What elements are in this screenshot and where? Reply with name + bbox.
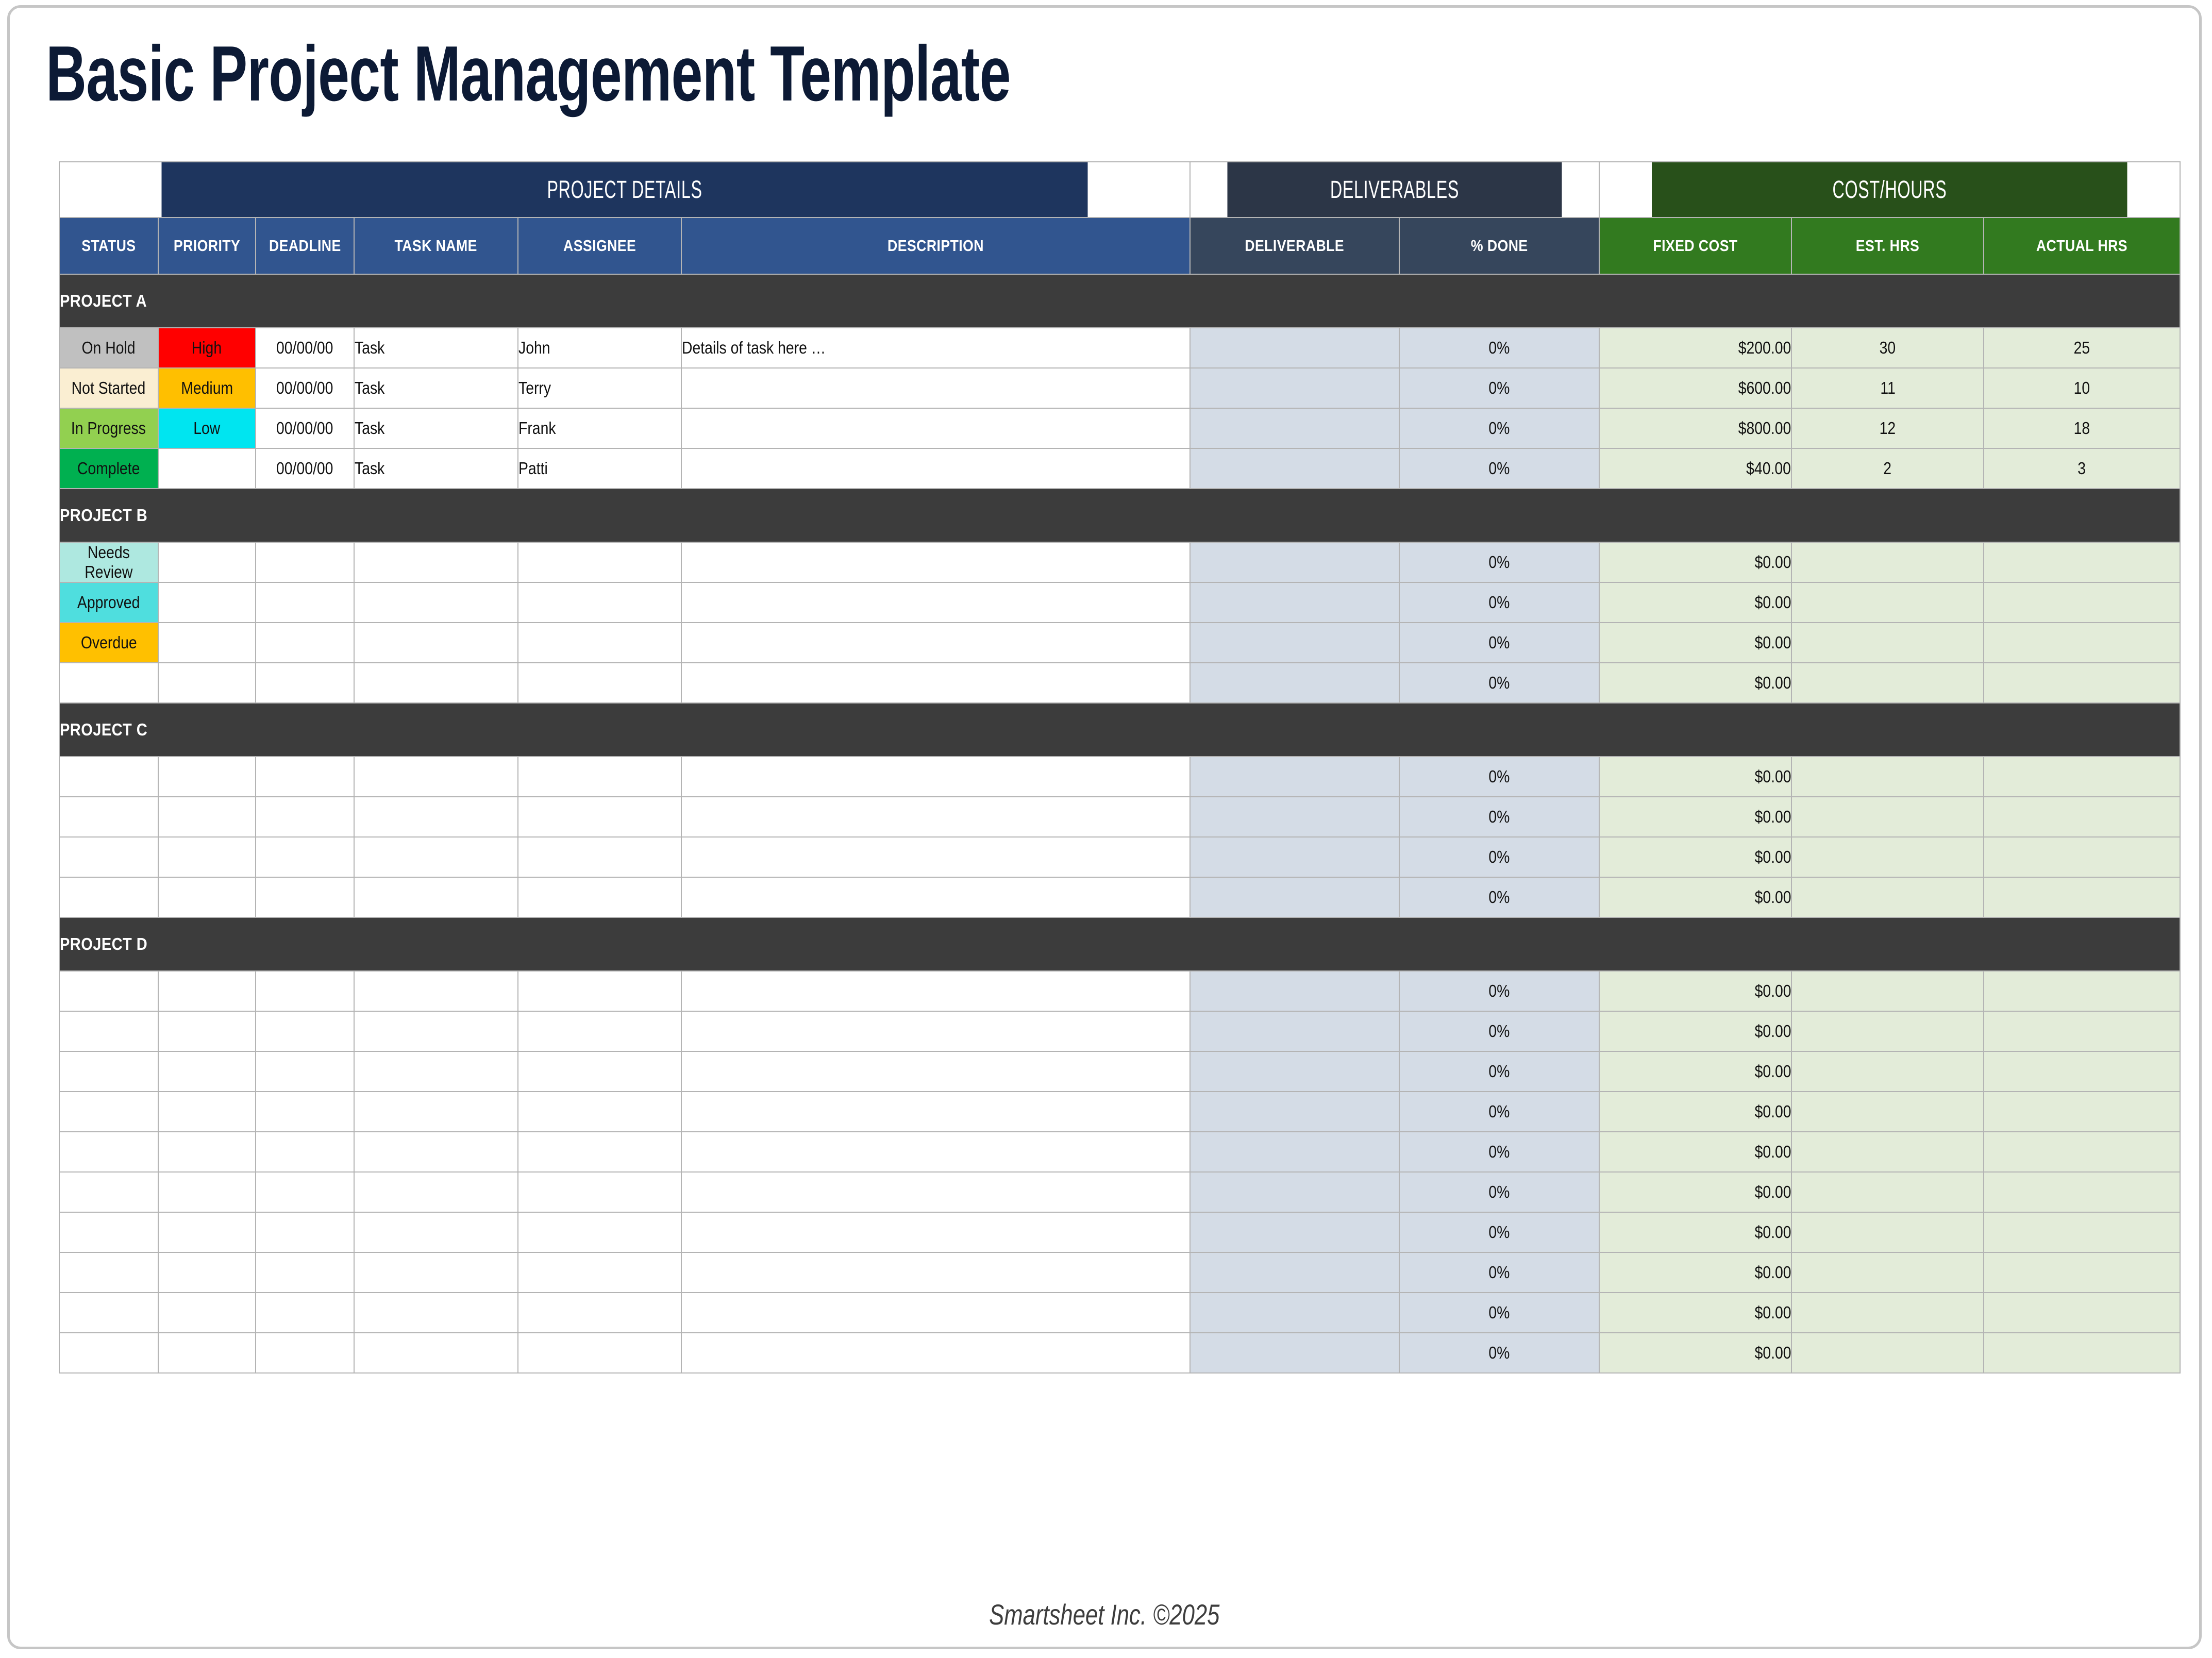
cell-deliverable[interactable]	[1190, 1132, 1399, 1172]
cell-deadline[interactable]	[256, 877, 355, 917]
cell-percent_done[interactable]: 0%	[1399, 1011, 1600, 1051]
cell-percent_done[interactable]: 0%	[1399, 448, 1600, 489]
cell-actual_hrs[interactable]: 25	[1984, 328, 2180, 368]
cell-actual_hrs[interactable]	[1984, 1011, 2180, 1051]
cell-deadline[interactable]	[256, 1333, 355, 1373]
cell-est_hrs-text: 12	[1880, 418, 1896, 438]
cell-actual_hrs[interactable]	[1984, 757, 2180, 797]
cell-actual_hrs[interactable]	[1984, 542, 2180, 582]
cell-est_hrs[interactable]	[1791, 1011, 1984, 1051]
cell-actual_hrs[interactable]	[1984, 663, 2180, 703]
cell-assignee[interactable]	[518, 1293, 681, 1333]
cell-description[interactable]	[681, 1011, 1190, 1051]
cell-percent_done-text: 0%	[1488, 633, 1510, 652]
cell-task_name[interactable]	[354, 1011, 517, 1051]
cell-fixed_cost[interactable]: $0.00	[1599, 797, 1791, 837]
cell-assignee[interactable]	[518, 797, 681, 837]
cell-est_hrs[interactable]: 11	[1791, 368, 1984, 408]
cell-status[interactable]	[59, 1011, 158, 1051]
cell-est_hrs[interactable]	[1791, 582, 1984, 623]
cell-fixed_cost-text: $200.00	[1738, 338, 1791, 358]
cell-priority[interactable]	[158, 623, 256, 663]
cell-est_hrs[interactable]	[1791, 1132, 1984, 1172]
cell-priority[interactable]	[158, 837, 256, 877]
cell-fixed_cost[interactable]: $0.00	[1599, 623, 1791, 663]
footer-copyright-text: Smartsheet Inc. ©2025	[989, 1598, 1219, 1631]
cell-assignee[interactable]: John	[518, 328, 681, 368]
cell-est_hrs[interactable]	[1791, 1333, 1984, 1373]
cell-percent_done[interactable]: 0%	[1399, 1051, 1600, 1092]
cell-status[interactable]	[59, 1252, 158, 1293]
cell-fixed_cost-text: $0.00	[1754, 1303, 1791, 1322]
cell-status[interactable]	[59, 1172, 158, 1212]
cell-status-text: Approved	[77, 593, 140, 612]
cell-deliverable[interactable]	[1190, 797, 1399, 837]
cell-priority-text: High	[192, 338, 222, 358]
cell-description[interactable]	[681, 1293, 1190, 1333]
cell-percent_done[interactable]: 0%	[1399, 582, 1600, 623]
cell-priority[interactable]	[158, 1011, 256, 1051]
cell-percent_done-text: 0%	[1488, 981, 1510, 1001]
cell-assignee[interactable]	[518, 837, 681, 877]
cell-fixed_cost[interactable]: $0.00	[1599, 1252, 1791, 1293]
cell-description[interactable]	[681, 757, 1190, 797]
cell-status[interactable]	[59, 1293, 158, 1333]
cell-fixed_cost[interactable]: $0.00	[1599, 1051, 1791, 1092]
column-header-description-label: DESCRIPTION	[717, 237, 1154, 255]
cell-status[interactable]	[59, 1333, 158, 1373]
cell-actual_hrs[interactable]	[1984, 1092, 2180, 1132]
cell-deadline[interactable]	[256, 971, 355, 1011]
cell-assignee[interactable]	[518, 1212, 681, 1252]
cell-status[interactable]: On Hold	[59, 328, 158, 368]
cell-deliverable[interactable]	[1190, 1092, 1399, 1132]
cell-task_name[interactable]	[354, 1051, 517, 1092]
column-header-actual_hrs-label: ACTUAL HRS	[1998, 237, 2166, 255]
cell-status[interactable]: Needs Review	[59, 542, 158, 582]
cell-actual_hrs[interactable]: 3	[1984, 448, 2180, 489]
cell-assignee[interactable]	[518, 1132, 681, 1172]
cell-description[interactable]	[681, 877, 1190, 917]
cell-deadline[interactable]	[256, 1092, 355, 1132]
cell-priority[interactable]: Medium	[158, 368, 256, 408]
cell-deadline[interactable]	[256, 1212, 355, 1252]
cell-description[interactable]	[681, 971, 1190, 1011]
document-page: Basic Project Management Template PROJEC…	[7, 5, 2202, 1649]
table-row: Needs Review0%$0.00	[59, 542, 2180, 582]
cell-percent_done-text: 0%	[1488, 1182, 1510, 1202]
cell-deadline[interactable]	[256, 1051, 355, 1092]
cell-fixed_cost[interactable]: $0.00	[1599, 1172, 1791, 1212]
cell-est_hrs[interactable]	[1791, 797, 1984, 837]
cell-task_name[interactable]: Task	[354, 448, 517, 489]
cell-assignee[interactable]	[518, 1011, 681, 1051]
cell-status[interactable]: Approved	[59, 582, 158, 623]
cell-deadline[interactable]	[256, 663, 355, 703]
cell-actual_hrs[interactable]	[1984, 582, 2180, 623]
cell-deadline[interactable]	[256, 797, 355, 837]
cell-est_hrs[interactable]	[1791, 663, 1984, 703]
cell-deadline[interactable]	[256, 1172, 355, 1212]
cell-task_name[interactable]	[354, 623, 517, 663]
cell-deadline[interactable]	[256, 582, 355, 623]
cell-deadline[interactable]	[256, 757, 355, 797]
cell-percent_done[interactable]: 0%	[1399, 408, 1600, 448]
cell-deliverable[interactable]	[1190, 1212, 1399, 1252]
cell-fixed_cost[interactable]: $200.00	[1599, 328, 1791, 368]
cell-task_name[interactable]	[354, 757, 517, 797]
cell-percent_done[interactable]: 0%	[1399, 837, 1600, 877]
cell-priority[interactable]	[158, 1132, 256, 1172]
cell-status[interactable]: In Progress	[59, 408, 158, 448]
cell-deliverable[interactable]	[1190, 408, 1399, 448]
cell-percent_done[interactable]: 0%	[1399, 328, 1600, 368]
cell-status[interactable]	[59, 837, 158, 877]
cell-deliverable[interactable]	[1190, 1172, 1399, 1212]
cell-percent_done[interactable]: 0%	[1399, 1333, 1600, 1373]
cell-priority[interactable]	[158, 1092, 256, 1132]
cell-description[interactable]: Details of task here …	[681, 328, 1190, 368]
cell-fixed_cost[interactable]: $0.00	[1599, 663, 1791, 703]
column-header-assignee[interactable]: ASSIGNEE	[518, 217, 681, 274]
cell-fixed_cost[interactable]: $0.00	[1599, 1333, 1791, 1373]
column-header-fixed_cost[interactable]: FIXED COST	[1599, 217, 1791, 274]
cell-priority[interactable]	[158, 663, 256, 703]
column-header-percent_done-label: % DONE	[1414, 237, 1585, 255]
column-header-status[interactable]: STATUS	[59, 217, 158, 274]
cell-deliverable[interactable]	[1190, 1011, 1399, 1051]
cell-percent_done-text: 0%	[1488, 338, 1510, 358]
cell-status-text: In Progress	[71, 418, 146, 438]
cell-fixed_cost[interactable]: $0.00	[1599, 1132, 1791, 1172]
cell-percent_done[interactable]: 0%	[1399, 542, 1600, 582]
cell-deliverable[interactable]	[1190, 757, 1399, 797]
cell-priority[interactable]	[158, 448, 256, 489]
cell-task_name[interactable]	[354, 837, 517, 877]
cell-status[interactable]	[59, 797, 158, 837]
cell-description[interactable]	[681, 368, 1190, 408]
cell-actual_hrs-text: 18	[2074, 418, 2090, 438]
cell-task_name[interactable]: Task	[354, 328, 517, 368]
cell-deadline[interactable]	[256, 837, 355, 877]
cell-fixed_cost-text: $0.00	[1754, 1062, 1791, 1081]
column-header-priority[interactable]: PRIORITY	[158, 217, 256, 274]
table-row: 0%$0.00	[59, 757, 2180, 797]
cell-priority[interactable]	[158, 1212, 256, 1252]
cell-percent_done[interactable]: 0%	[1399, 663, 1600, 703]
cell-est_hrs[interactable]	[1791, 757, 1984, 797]
cell-actual_hrs-text: 10	[2074, 378, 2090, 398]
cell-fixed_cost[interactable]: $800.00	[1599, 408, 1791, 448]
cell-actual_hrs[interactable]: 18	[1984, 408, 2180, 448]
project-name: PROJECT A	[60, 291, 147, 311]
cell-percent_done-text: 0%	[1488, 887, 1510, 907]
cell-fixed_cost[interactable]: $40.00	[1599, 448, 1791, 489]
column-header-deliverable[interactable]: DELIVERABLE	[1190, 217, 1399, 274]
cell-actual_hrs[interactable]	[1984, 1293, 2180, 1333]
cell-priority[interactable]	[158, 1252, 256, 1293]
cell-task_name[interactable]	[354, 877, 517, 917]
cell-description[interactable]	[681, 1051, 1190, 1092]
cell-percent_done[interactable]: 0%	[1399, 797, 1600, 837]
cell-status[interactable]	[59, 1051, 158, 1092]
cell-task_name[interactable]	[354, 1212, 517, 1252]
cell-priority[interactable]	[158, 582, 256, 623]
cell-status[interactable]	[59, 1132, 158, 1172]
cell-est_hrs[interactable]	[1791, 1252, 1984, 1293]
cell-deadline-text: 00/00/00	[276, 418, 333, 438]
cell-percent_done-text: 0%	[1488, 418, 1510, 438]
cell-deliverable[interactable]	[1190, 837, 1399, 877]
cell-actual_hrs[interactable]	[1984, 1051, 2180, 1092]
cell-actual_hrs[interactable]	[1984, 623, 2180, 663]
column-header-est_hrs[interactable]: EST. HRS	[1791, 217, 1984, 274]
cell-est_hrs[interactable]	[1791, 971, 1984, 1011]
table-row: 0%$0.00	[59, 837, 2180, 877]
cell-actual_hrs[interactable]	[1984, 971, 2180, 1011]
cell-assignee[interactable]	[518, 582, 681, 623]
cell-actual_hrs[interactable]	[1984, 797, 2180, 837]
cell-task_name[interactable]	[354, 1172, 517, 1212]
cell-assignee[interactable]	[518, 542, 681, 582]
cell-task_name[interactable]: Task	[354, 408, 517, 448]
cell-fixed_cost[interactable]: $0.00	[1599, 1011, 1791, 1051]
cell-deliverable[interactable]	[1190, 1051, 1399, 1092]
cell-est_hrs[interactable]: 2	[1791, 448, 1984, 489]
cell-status[interactable]: Not Started	[59, 368, 158, 408]
cell-fixed_cost-text: $0.00	[1754, 847, 1791, 867]
cell-assignee[interactable]	[518, 663, 681, 703]
cell-percent_done[interactable]: 0%	[1399, 1092, 1600, 1132]
cell-assignee[interactable]	[518, 877, 681, 917]
cell-priority[interactable]: Low	[158, 408, 256, 448]
cell-priority[interactable]	[158, 1293, 256, 1333]
cell-assignee[interactable]	[518, 757, 681, 797]
cell-fixed_cost[interactable]: $0.00	[1599, 971, 1791, 1011]
cell-task_name[interactable]: Task	[354, 368, 517, 408]
cell-percent_done[interactable]: 0%	[1399, 1132, 1600, 1172]
column-header-task_name[interactable]: TASK NAME	[354, 217, 517, 274]
project-management-table: PROJECT DETAILSDELIVERABLESCOST/HOURS ST…	[59, 161, 2181, 1374]
cell-fixed_cost-text: $0.00	[1754, 807, 1791, 827]
cell-fixed_cost[interactable]: $0.00	[1599, 1092, 1791, 1132]
cell-est_hrs[interactable]: 30	[1791, 328, 1984, 368]
cell-est_hrs[interactable]	[1791, 623, 1984, 663]
cell-percent_done-text: 0%	[1488, 593, 1510, 612]
cell-assignee[interactable]	[518, 1051, 681, 1092]
cell-est_hrs[interactable]: 12	[1791, 408, 1984, 448]
cell-deliverable[interactable]	[1190, 542, 1399, 582]
cell-est_hrs-text: 2	[1884, 459, 1892, 478]
cell-assignee[interactable]: Patti	[518, 448, 681, 489]
cell-description[interactable]	[681, 1252, 1190, 1293]
cell-fixed_cost[interactable]: $0.00	[1599, 877, 1791, 917]
cell-percent_done-text: 0%	[1488, 767, 1510, 786]
cell-deadline[interactable]	[256, 1252, 355, 1293]
cell-status[interactable]: Complete	[59, 448, 158, 489]
cell-deliverable[interactable]	[1190, 971, 1399, 1011]
cell-percent_done[interactable]: 0%	[1399, 1293, 1600, 1333]
cell-deliverable[interactable]	[1190, 328, 1399, 368]
cell-status[interactable]	[59, 1212, 158, 1252]
cell-est_hrs[interactable]	[1791, 877, 1984, 917]
table-row: 0%$0.00	[59, 971, 2180, 1011]
table-row: Complete00/00/00TaskPatti0%$40.0023	[59, 448, 2180, 489]
cell-status[interactable]	[59, 971, 158, 1011]
cell-deadline[interactable]	[256, 1293, 355, 1333]
project-name: PROJECT D	[60, 934, 147, 954]
cell-description[interactable]	[681, 542, 1190, 582]
cell-deliverable[interactable]	[1190, 448, 1399, 489]
cell-deadline[interactable]	[256, 542, 355, 582]
column-header-est_hrs-label: EST. HRS	[1805, 237, 1970, 255]
cell-description[interactable]	[681, 1333, 1190, 1373]
cell-status[interactable]	[59, 757, 158, 797]
cell-deliverable[interactable]	[1190, 1252, 1399, 1293]
group-header-project-details: PROJECT DETAILS	[161, 162, 1088, 217]
cell-assignee[interactable]	[518, 1092, 681, 1132]
cell-priority[interactable]	[158, 757, 256, 797]
cell-fixed_cost[interactable]: $0.00	[1599, 1212, 1791, 1252]
cell-fixed_cost[interactable]: $0.00	[1599, 757, 1791, 797]
cell-task_name[interactable]	[354, 663, 517, 703]
cell-actual_hrs[interactable]	[1984, 1212, 2180, 1252]
column-header-percent_done[interactable]: % DONE	[1399, 217, 1600, 274]
cell-fixed_cost[interactable]: $600.00	[1599, 368, 1791, 408]
cell-est_hrs[interactable]	[1791, 837, 1984, 877]
cell-description[interactable]	[681, 582, 1190, 623]
cell-description[interactable]	[681, 448, 1190, 489]
cell-task_name[interactable]	[354, 1333, 517, 1373]
cell-deadline[interactable]: 00/00/00	[256, 448, 355, 489]
cell-fixed_cost[interactable]: $0.00	[1599, 1293, 1791, 1333]
cell-assignee[interactable]	[518, 971, 681, 1011]
cell-percent_done[interactable]: 0%	[1399, 1252, 1600, 1293]
cell-assignee[interactable]: Frank	[518, 408, 681, 448]
cell-actual_hrs[interactable]	[1984, 1333, 2180, 1373]
cell-deadline[interactable]: 00/00/00	[256, 408, 355, 448]
cell-priority[interactable]	[158, 1051, 256, 1092]
cell-percent_done[interactable]: 0%	[1399, 971, 1600, 1011]
cell-actual_hrs[interactable]	[1984, 1172, 2180, 1212]
cell-priority[interactable]	[158, 797, 256, 837]
cell-deliverable[interactable]	[1190, 663, 1399, 703]
cell-actual_hrs[interactable]	[1984, 1132, 2180, 1172]
cell-est_hrs[interactable]	[1791, 1051, 1984, 1092]
group-header-deliverables: DELIVERABLES	[1227, 162, 1563, 217]
cell-actual_hrs[interactable]	[1984, 837, 2180, 877]
cell-deadline[interactable]	[256, 1011, 355, 1051]
cell-fixed_cost-text: $0.00	[1754, 1142, 1791, 1162]
cell-description[interactable]	[681, 623, 1190, 663]
cell-assignee[interactable]	[518, 1172, 681, 1212]
cell-description[interactable]	[681, 1212, 1190, 1252]
cell-percent_done[interactable]: 0%	[1399, 877, 1600, 917]
cell-fixed_cost[interactable]: $0.00	[1599, 542, 1791, 582]
cell-est_hrs[interactable]	[1791, 1092, 1984, 1132]
cell-deadline-text: 00/00/00	[276, 338, 333, 358]
cell-assignee[interactable]	[518, 1333, 681, 1373]
cell-deadline[interactable]: 00/00/00	[256, 368, 355, 408]
cell-percent_done-text: 0%	[1488, 378, 1510, 398]
cell-est_hrs[interactable]	[1791, 1172, 1984, 1212]
cell-deliverable[interactable]	[1190, 623, 1399, 663]
cell-assignee[interactable]: Terry	[518, 368, 681, 408]
column-header-deadline[interactable]: DEADLINE	[256, 217, 355, 274]
cell-priority[interactable]: High	[158, 328, 256, 368]
cell-description[interactable]	[681, 408, 1190, 448]
cell-fixed_cost[interactable]: $0.00	[1599, 837, 1791, 877]
cell-percent_done-text: 0%	[1488, 847, 1510, 867]
cell-deadline[interactable]	[256, 623, 355, 663]
table-row: 0%$0.00	[59, 1051, 2180, 1092]
cell-assignee[interactable]	[518, 1252, 681, 1293]
cell-priority[interactable]	[158, 1172, 256, 1212]
cell-percent_done[interactable]: 0%	[1399, 623, 1600, 663]
cell-percent_done[interactable]: 0%	[1399, 1172, 1600, 1212]
cell-est_hrs[interactable]	[1791, 542, 1984, 582]
cell-task_name[interactable]	[354, 1293, 517, 1333]
cell-deliverable[interactable]	[1190, 877, 1399, 917]
cell-status[interactable]	[59, 663, 158, 703]
cell-percent_done[interactable]: 0%	[1399, 368, 1600, 408]
cell-deadline[interactable]: 00/00/00	[256, 328, 355, 368]
cell-priority[interactable]	[158, 1333, 256, 1373]
cell-task_name[interactable]	[354, 971, 517, 1011]
cell-actual_hrs[interactable]	[1984, 877, 2180, 917]
cell-deadline[interactable]	[256, 1132, 355, 1172]
cell-task_name[interactable]	[354, 1252, 517, 1293]
project-band-cell: PROJECT A	[59, 274, 2180, 328]
cell-description[interactable]	[681, 1172, 1190, 1212]
cell-status[interactable]	[59, 877, 158, 917]
cell-priority[interactable]	[158, 971, 256, 1011]
column-header-actual_hrs[interactable]: ACTUAL HRS	[1984, 217, 2180, 274]
cell-est_hrs[interactable]	[1791, 1212, 1984, 1252]
cell-description[interactable]	[681, 837, 1190, 877]
cell-actual_hrs[interactable]	[1984, 1252, 2180, 1293]
cell-percent_done-text: 0%	[1488, 1303, 1510, 1322]
cell-percent_done[interactable]: 0%	[1399, 1212, 1600, 1252]
cell-description[interactable]	[681, 1132, 1190, 1172]
table-row: On HoldHigh00/00/00TaskJohnDetails of ta…	[59, 328, 2180, 368]
cell-est_hrs[interactable]	[1791, 1293, 1984, 1333]
cell-deadline-text: 00/00/00	[276, 378, 333, 398]
cell-status[interactable]	[59, 1092, 158, 1132]
cell-actual_hrs[interactable]: 10	[1984, 368, 2180, 408]
cell-description[interactable]	[681, 663, 1190, 703]
cell-fixed_cost[interactable]: $0.00	[1599, 582, 1791, 623]
cell-percent_done[interactable]: 0%	[1399, 757, 1600, 797]
cell-deliverable[interactable]	[1190, 1333, 1399, 1373]
cell-task_name[interactable]	[354, 542, 517, 582]
cell-priority[interactable]	[158, 877, 256, 917]
column-header-description[interactable]: DESCRIPTION	[681, 217, 1190, 274]
cell-description[interactable]	[681, 1092, 1190, 1132]
cell-status-text: Complete	[77, 459, 140, 478]
cell-deliverable[interactable]	[1190, 368, 1399, 408]
cell-task_name[interactable]	[354, 582, 517, 623]
cell-deliverable[interactable]	[1190, 582, 1399, 623]
cell-assignee[interactable]	[518, 623, 681, 663]
cell-status[interactable]: Overdue	[59, 623, 158, 663]
cell-description[interactable]	[681, 797, 1190, 837]
cell-task_name[interactable]	[354, 1132, 517, 1172]
cell-deliverable[interactable]	[1190, 1293, 1399, 1333]
cell-priority[interactable]	[158, 542, 256, 582]
cell-task_name[interactable]	[354, 797, 517, 837]
cell-task_name[interactable]	[354, 1092, 517, 1132]
